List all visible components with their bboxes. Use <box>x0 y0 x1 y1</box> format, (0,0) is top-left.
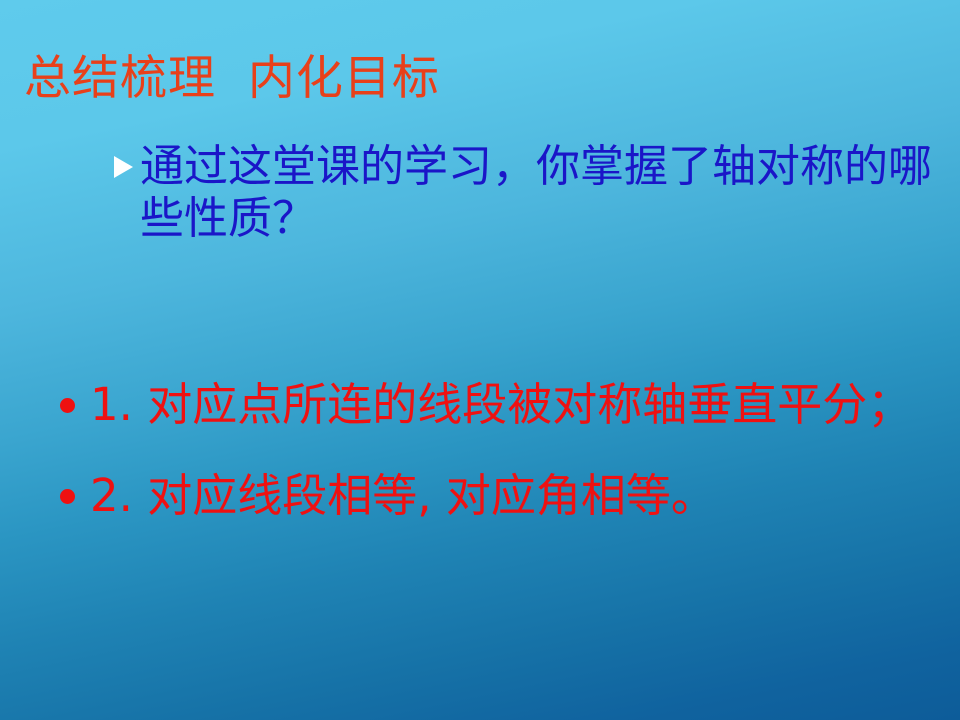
dot-bullet-icon <box>60 398 90 413</box>
question-block: 通过这堂课的学习，你掌握了轴对称的哪些性质？ <box>112 141 958 245</box>
page-title: 总结梳理 内化目标 <box>24 55 440 102</box>
dot-bullet-icon <box>60 489 90 504</box>
list-item: 2. 对应线段相等, 对应角相等。 <box>60 469 950 524</box>
question-text: 通过这堂课的学习，你掌握了轴对称的哪些性质？ <box>140 141 958 245</box>
properties-list: 1. 对应点所连的线段被对称轴垂直平分； 2. 对应线段相等, 对应角相等。 <box>60 378 950 524</box>
list-item: 1. 对应点所连的线段被对称轴垂直平分； <box>60 378 950 433</box>
presentation-slide: 总结梳理 内化目标 通过这堂课的学习，你掌握了轴对称的哪些性质？ 1. 对应点所… <box>0 0 960 720</box>
triangle-right-icon <box>112 154 134 180</box>
property-text: 1. 对应点所连的线段被对称轴垂直平分； <box>90 378 950 433</box>
property-text: 2. 对应线段相等, 对应角相等。 <box>90 469 950 524</box>
